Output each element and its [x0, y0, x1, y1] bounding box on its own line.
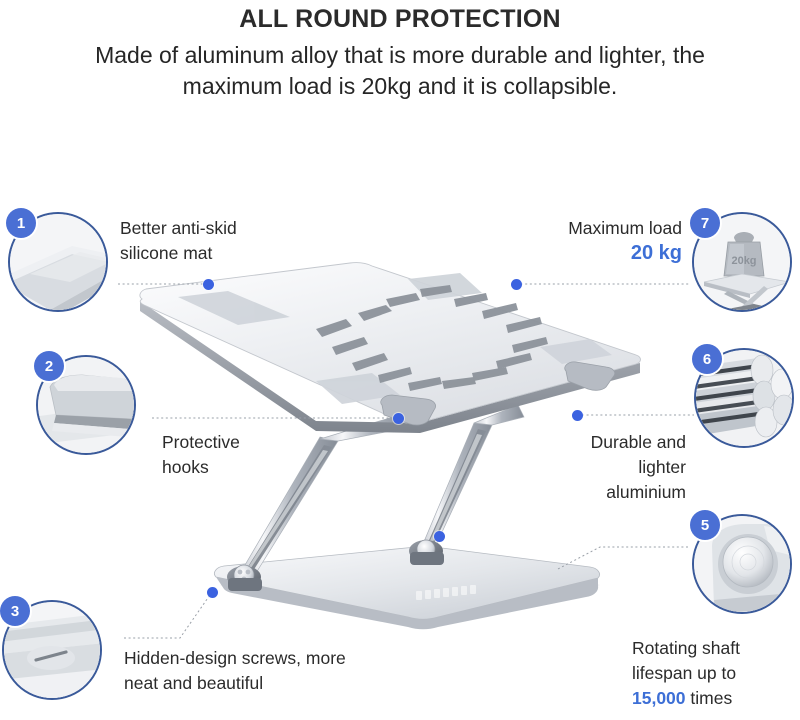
callout-5-line-2: lifespan up to [632, 661, 800, 686]
callout-5-suffix: times [686, 688, 733, 708]
callout-1-line-2: silicone mat [120, 241, 350, 266]
callout-5-label: Rotating shaft lifespan up to 15,000 tim… [632, 636, 800, 711]
callout-7-label: Maximum load 20 kg [460, 216, 682, 266]
callout-7-line-1: Maximum load [460, 216, 682, 241]
callout-2-line-2: hooks [162, 455, 362, 480]
anchor-dot-hidden-screws [207, 587, 218, 598]
callout-3-line-2: neat and beautiful [124, 671, 444, 696]
anchor-dot-silicone-mat [203, 279, 214, 290]
anchor-dot-rotating-shaft [434, 531, 445, 542]
callout-3-line-1: Hidden-design screws, more [124, 646, 444, 671]
callout-6-line-3: aluminium [470, 480, 686, 505]
callout-7-badge: 7 [690, 208, 720, 238]
callout-6-label: Durable and lighter aluminium [470, 430, 686, 505]
anchor-dot-protective-hooks [393, 413, 404, 424]
callout-3-badge: 3 [0, 596, 30, 626]
infographic-canvas: ALL ROUND PROTECTION Made of aluminum al… [0, 0, 800, 720]
callout-6-badge: 6 [692, 344, 722, 374]
callout-1-label: Better anti-skid silicone mat [120, 216, 350, 266]
anchor-dot-aluminium [572, 410, 583, 421]
callout-7-highlight: 20 kg [460, 241, 682, 266]
callout-1-line-1: Better anti-skid [120, 216, 350, 241]
callout-5-highlight: 15,000 [632, 688, 686, 708]
anchor-dot-max-load [511, 279, 522, 290]
callout-6-line-1: Durable and [470, 430, 686, 455]
leader-lines [0, 0, 800, 720]
callout-5-line-1: Rotating shaft [632, 636, 800, 661]
callout-5-badge: 5 [690, 510, 720, 540]
weight-label: 20kg [731, 255, 756, 267]
callout-6-line-2: lighter [470, 455, 686, 480]
callout-1-badge: 1 [6, 208, 36, 238]
callout-2-label: Protective hooks [162, 430, 362, 480]
callout-3-label: Hidden-design screws, more neat and beau… [124, 646, 444, 696]
callout-2-line-1: Protective [162, 430, 362, 455]
callout-2-badge: 2 [34, 351, 64, 381]
callout-5-line-3: 15,000 times [632, 686, 800, 711]
